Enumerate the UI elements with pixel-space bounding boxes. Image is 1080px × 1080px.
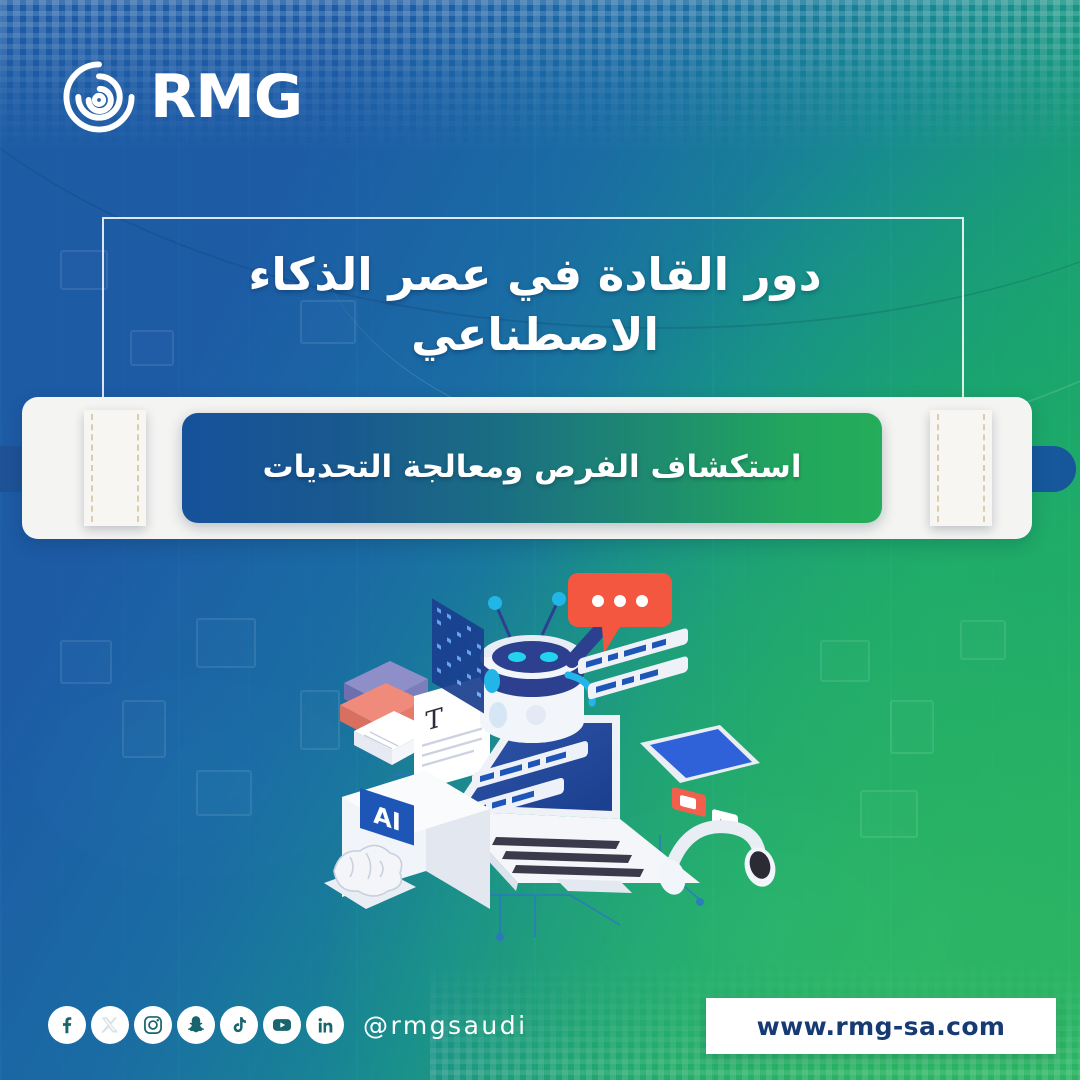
logo-wordmark: RMG (150, 67, 302, 127)
ai-illustration: T (320, 565, 770, 955)
social-youtube[interactable] (263, 1006, 301, 1044)
social-handle: @rmgsaudi (363, 1011, 528, 1040)
social-links: @rmgsaudi (48, 1006, 528, 1044)
facebook-icon (56, 1014, 78, 1036)
snapchat-icon (185, 1014, 207, 1036)
page-title: دور القادة في عصر الذكاء الاصطناعي (120, 245, 950, 365)
social-instagram[interactable] (134, 1006, 172, 1044)
svg-text:T: T (425, 702, 443, 737)
social-facebook[interactable] (48, 1006, 86, 1044)
social-snapchat[interactable] (177, 1006, 215, 1044)
website-url: www.rmg-sa.com (757, 1012, 1006, 1041)
subtitle-banner: استكشاف الفرص ومعالجة التحديات (0, 392, 1080, 544)
social-post-canvas: RMG دور القادة في عصر الذكاء الاصطناعي ا… (0, 0, 1080, 1080)
banner-subtitle: استكشاف الفرص ومعالجة التحديات (263, 449, 802, 486)
banner-tab-left (84, 410, 146, 526)
tiktok-icon (229, 1015, 249, 1035)
spiral-swirl-icon (62, 60, 136, 134)
tablet (640, 725, 760, 833)
instagram-icon (142, 1014, 164, 1036)
headphones (655, 827, 780, 898)
footer: @rmgsaudi www.rmg-sa.com (0, 970, 1080, 1080)
x-twitter-icon (100, 1015, 120, 1035)
banner-pill: استكشاف الفرص ومعالجة التحديات (182, 413, 882, 523)
youtube-icon (271, 1014, 293, 1036)
linkedin-icon (315, 1015, 336, 1036)
social-linkedin[interactable] (306, 1006, 344, 1044)
banner-tab-right (930, 410, 992, 526)
brand-logo: RMG (62, 60, 302, 134)
social-tiktok[interactable] (220, 1006, 258, 1044)
social-x-twitter[interactable] (91, 1006, 129, 1044)
website-button[interactable]: www.rmg-sa.com (706, 998, 1056, 1054)
